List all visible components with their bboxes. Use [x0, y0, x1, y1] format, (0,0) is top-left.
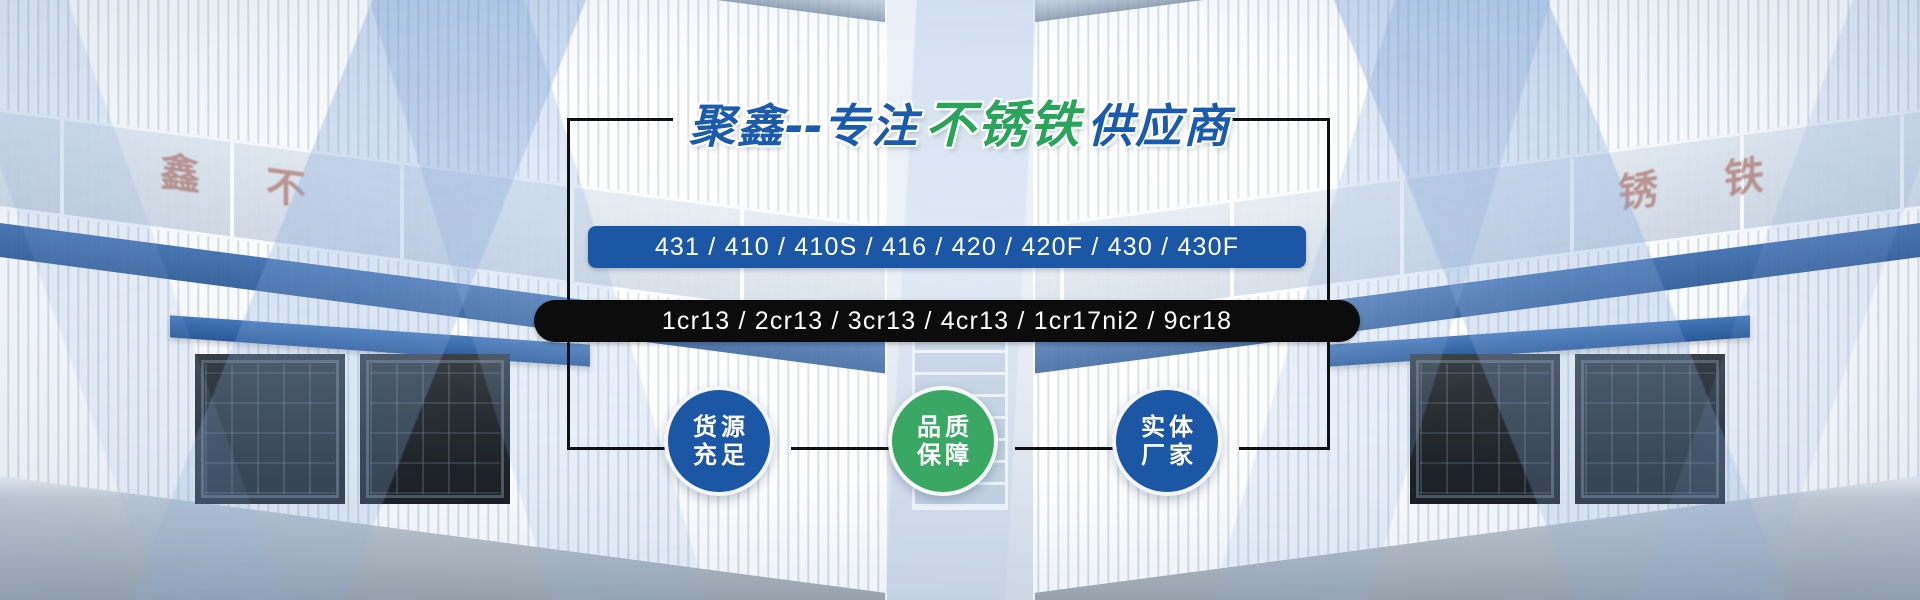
feature-badge-line1: 实体	[1137, 413, 1197, 441]
headline-highlight: 不锈铁	[919, 96, 1087, 154]
feature-badge-line2: 厂家	[1137, 441, 1197, 469]
steel-grade-pill-secondary: 1cr13 / 2cr13 / 3cr13 / 4cr13 / 1cr17ni2…	[534, 300, 1360, 342]
feature-badge-line2: 充足	[689, 441, 749, 469]
feature-badge-factory: 实体 厂家	[1112, 386, 1222, 496]
frame-bottom-mid-rule	[791, 447, 898, 450]
headline-focus: 专注	[823, 99, 919, 153]
feature-badge-quality: 品质 保障	[888, 386, 998, 496]
promo-banner: 鑫 不 锈 铁 聚鑫--专注不锈铁供应商 431 / 410 / 410S / …	[0, 0, 1920, 600]
headline-dash: --	[785, 99, 823, 153]
feature-badge-line2: 保障	[913, 441, 973, 469]
frame-left-rule	[567, 118, 570, 450]
headline-brand: 聚鑫	[689, 99, 785, 153]
frame-bottom-right-rule	[1239, 447, 1330, 450]
banner-content: 聚鑫--专注不锈铁供应商 431 / 410 / 410S / 416 / 42…	[0, 0, 1920, 600]
steel-grade-pill-primary: 431 / 410 / 410S / 416 / 420 / 420F / 43…	[588, 226, 1306, 268]
frame-bottom-left-rule	[567, 447, 674, 450]
feature-badge-line1: 货源	[689, 413, 749, 441]
banner-headline: 聚鑫--专注不锈铁供应商	[0, 85, 1920, 157]
frame-bottom-mid-rule	[1015, 447, 1122, 450]
headline-supplier: 供应商	[1087, 99, 1231, 153]
feature-badge-line1: 品质	[913, 413, 973, 441]
frame-right-rule	[1327, 118, 1330, 450]
feature-badge-supply: 货源 充足	[664, 386, 774, 496]
